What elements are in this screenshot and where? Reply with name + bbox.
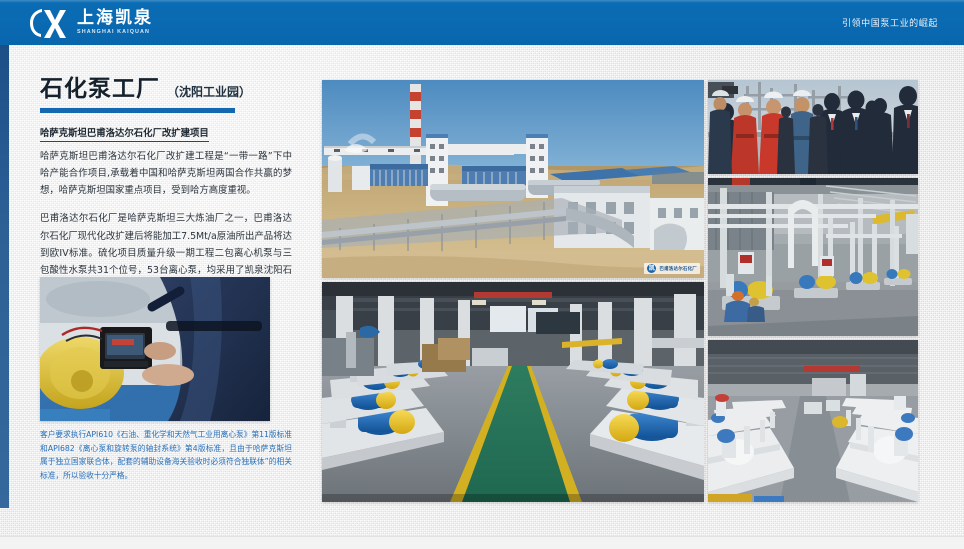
photo-factory-hall-graphic (322, 282, 704, 502)
brand-name-en: SHANGHAI KAIQUAN (77, 30, 153, 35)
photo-plant-exterior: 凯 巴甫洛达尔石化厂 (322, 80, 704, 278)
title-underline-rule (40, 108, 235, 113)
bottom-edge-strip (0, 536, 964, 549)
project-paragraph-1: 哈萨克斯坦巴甫洛达尔石化厂改扩建工程是“一带一路”下中哈产能合作项目,承载着中国… (40, 148, 292, 199)
image-watermark: 凯 巴甫洛达尔石化厂 (644, 263, 700, 274)
page-title-sub: （沈阳工业园） (167, 83, 251, 101)
kaiquan-logo-icon (28, 7, 70, 39)
watermark-text: 巴甫洛达尔石化厂 (659, 266, 697, 272)
page-title: 石化泵工厂 （沈阳工业园） (40, 78, 292, 101)
header-slogan: 引领中国泵工业的崛起 (842, 0, 938, 45)
left-content-column: 石化泵工厂 （沈阳工业园） 哈萨克斯坦巴甫洛达尔石化厂改扩建项目 哈萨克斯坦巴甫… (40, 78, 292, 296)
header-highlight (0, 0, 964, 3)
photo-plant-graphic (322, 80, 704, 278)
photo-pump-station-graphic (708, 178, 918, 336)
photo-delegation-graphic (708, 80, 918, 174)
page-title-main: 石化泵工厂 (40, 78, 160, 101)
photo-pump-assembly-graphic (708, 340, 918, 502)
header-bar: 上海凯泉 SHANGHAI KAIQUAN 引领中国泵工业的崛起 (0, 0, 964, 45)
project-caption: 客户要求执行API610《石油、重化学和天然气工业用离心泵》第11版标准和API… (40, 428, 292, 483)
photo-factory-hall (322, 282, 704, 502)
brand-logo[interactable]: 上海凯泉 SHANGHAI KAIQUAN (28, 7, 153, 39)
photo-pump-assembly (708, 340, 918, 502)
photo-delegation (708, 80, 918, 174)
kaiquan-watermark-icon: 凯 (647, 264, 656, 273)
brand-name-cn: 上海凯泉 (77, 10, 153, 27)
photo-pump-station (708, 178, 918, 336)
photo-inspection (40, 277, 270, 421)
project-heading: 哈萨克斯坦巴甫洛达尔石化厂改扩建项目 (40, 127, 209, 142)
left-edge-strip (0, 45, 9, 508)
photo-inspection-graphic (40, 277, 270, 421)
